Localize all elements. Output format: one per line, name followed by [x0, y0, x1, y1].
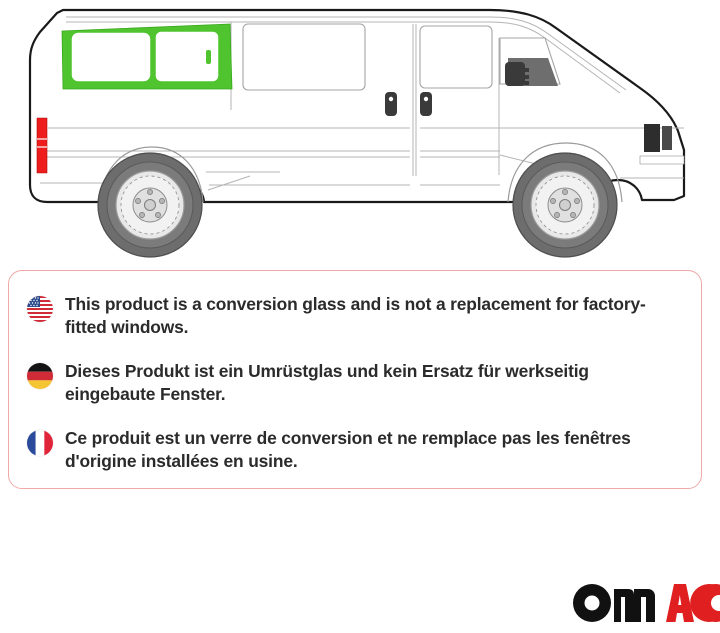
flag-de-icon: [27, 363, 53, 389]
product-info-page: This product is a conversion glass and i…: [0, 0, 720, 633]
flag-us-icon: [27, 296, 53, 322]
conversion-glass-notice-box: This product is a conversion glass and i…: [8, 270, 702, 489]
notice-row-french: Ce produit est un verre de conversion et…: [27, 427, 683, 474]
taillight: [37, 118, 47, 173]
omac-logo-letter-c: [690, 584, 720, 622]
omac-logo-letter-o: [573, 584, 611, 622]
notice-text-english: This product is a conversion glass and i…: [65, 293, 683, 340]
rear-wheel: [98, 153, 202, 257]
notice-row-english: This product is a conversion glass and i…: [27, 293, 683, 340]
front-wheel: [513, 153, 617, 257]
omac-logo: [570, 579, 720, 623]
notice-text-french: Ce produit est un verre de conversion et…: [65, 427, 683, 474]
omac-logo-letter-m: [614, 589, 655, 622]
notice-row-german: Dieses Produkt ist ein Umrüstglas und ke…: [27, 360, 683, 407]
van-side-view-diagram: [0, 0, 720, 258]
omac-logo-letter-a: [666, 584, 694, 622]
highlighted-conversion-window: [62, 24, 232, 89]
flag-fr-icon: [27, 430, 53, 456]
notice-text-german: Dieses Produkt ist ein Umrüstglas und ke…: [65, 360, 683, 407]
